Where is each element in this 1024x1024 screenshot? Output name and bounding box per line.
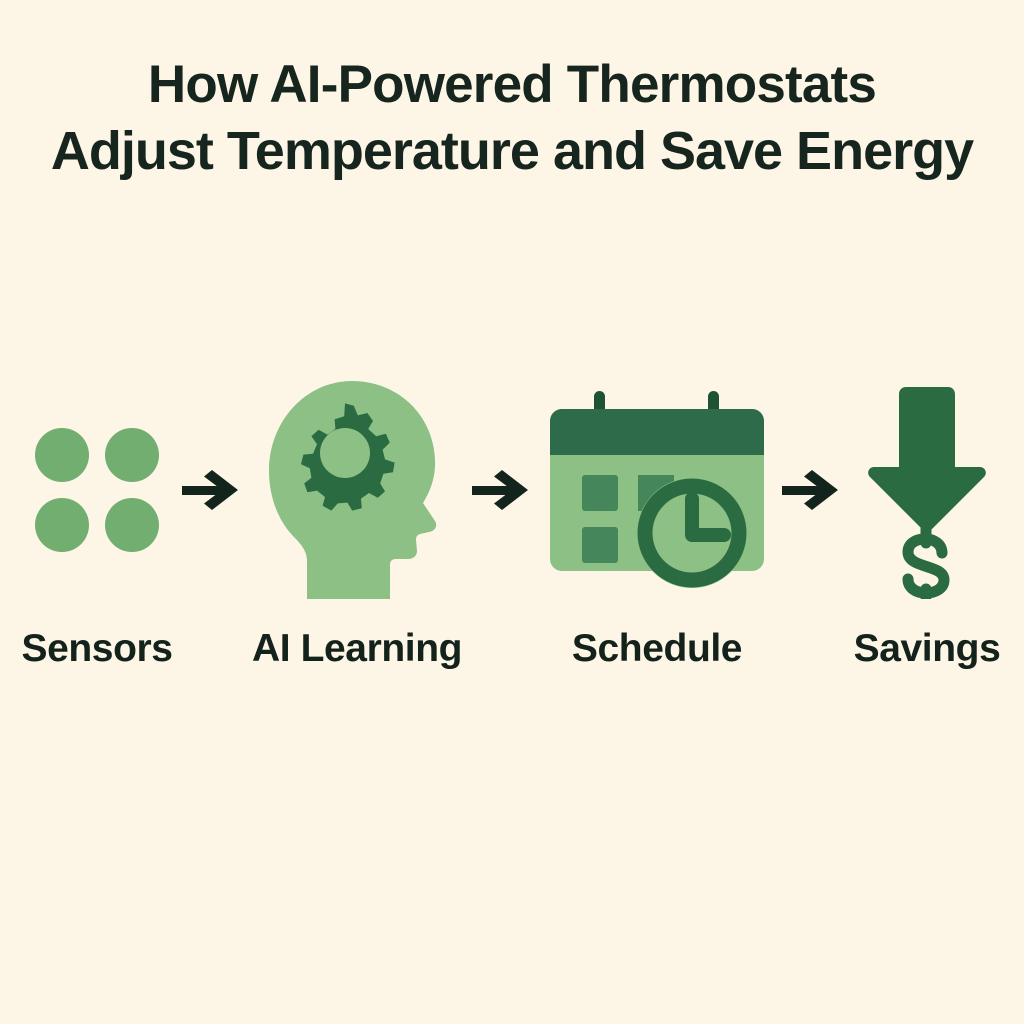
stage-label-savings: Savings: [854, 625, 1001, 673]
sensor-dot: [105, 428, 159, 482]
label-cell-sensors: Sensors: [22, 625, 172, 695]
flow-stage-savings: [852, 370, 1002, 610]
flow-stage-sensors: [22, 370, 172, 610]
flow-stage-schedule: [542, 370, 772, 610]
stage-label-schedule: Schedule: [572, 625, 742, 673]
title-line-1: How AI-Powered Thermostats: [10, 52, 1014, 118]
arrow-right-icon: [172, 370, 252, 610]
page-title: How AI-Powered Thermostats Adjust Temper…: [0, 52, 1024, 184]
infographic-canvas: How AI-Powered Thermostats Adjust Temper…: [0, 0, 1024, 1024]
stage-labels: Sensors AI Learning Schedule Savings: [0, 625, 1024, 695]
label-cell-schedule: Schedule: [542, 625, 772, 695]
sensor-dots-icon: [35, 428, 159, 552]
label-cell-savings: Savings: [852, 625, 1002, 695]
arrow-right-icon: [462, 370, 542, 610]
title-line-2: Adjust Temperature and Save Energy: [10, 118, 1014, 184]
down-arrow-dollar-icon: [862, 381, 992, 599]
label-cell-ai-learning: AI Learning: [252, 625, 462, 695]
sensor-dot: [35, 498, 89, 552]
flow-stage-ai-learning: [252, 370, 462, 610]
stage-label-sensors: Sensors: [21, 625, 172, 673]
sensor-dot: [105, 498, 159, 552]
calendar-clock-icon: [544, 387, 770, 593]
stage-label-ai-learning: AI Learning: [252, 625, 462, 673]
head-with-gear-icon: [257, 375, 457, 605]
process-flow: [0, 370, 1024, 610]
sensor-dot: [35, 428, 89, 482]
arrow-right-icon: [772, 370, 852, 610]
